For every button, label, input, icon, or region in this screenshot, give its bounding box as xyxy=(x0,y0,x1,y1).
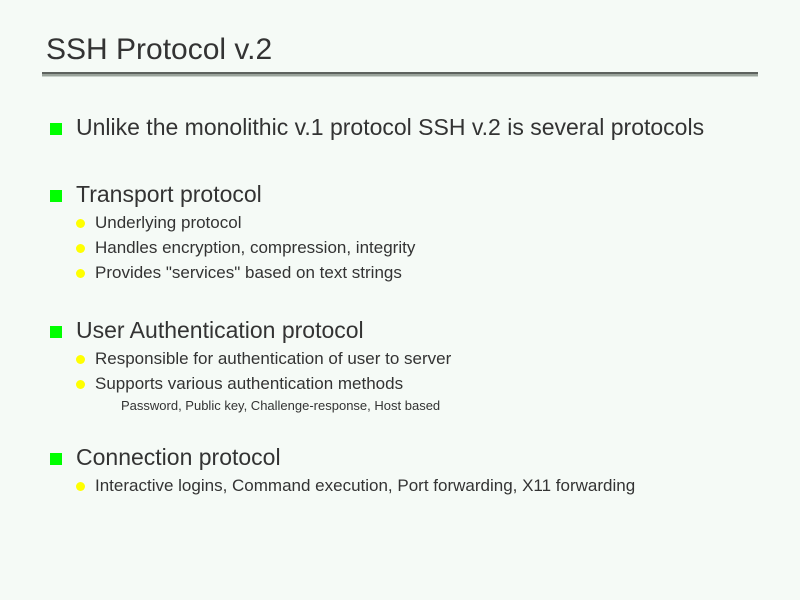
bullet-item-level2: Provides "services" based on text string… xyxy=(76,260,770,285)
bullet-item-label: Underlying protocol xyxy=(95,210,241,235)
bullet-item-label: Supports various authentication methods xyxy=(95,371,403,396)
bullet-item-label: Responsible for authentication of user t… xyxy=(95,346,451,371)
slide-body: Unlike the monolithic v.1 protocol SSH v… xyxy=(50,112,770,498)
dot-bullet-icon xyxy=(76,482,85,491)
dot-bullet-icon xyxy=(76,355,85,364)
bullet-item-level2: Responsible for authentication of user t… xyxy=(76,346,770,371)
bullet-item-label: Connection protocol xyxy=(76,442,281,473)
square-bullet-icon xyxy=(50,453,62,465)
square-bullet-icon xyxy=(50,123,62,135)
bullet-item-level2: Interactive logins, Command execution, P… xyxy=(76,473,770,498)
dot-bullet-icon xyxy=(76,219,85,228)
bullet-item-label: User Authentication protocol xyxy=(76,315,364,346)
spacer xyxy=(50,143,770,179)
bullet-item-label: Unlike the monolithic v.1 protocol SSH v… xyxy=(76,112,704,143)
bullet-item-level2: Underlying protocol xyxy=(76,210,770,235)
bullet-item-label: Interactive logins, Command execution, P… xyxy=(95,473,635,498)
bullet-item-level2: Handles encryption, compression, integri… xyxy=(76,235,770,260)
bullet-item-level1: User Authentication protocol xyxy=(50,315,770,346)
bullet-item-level1: Unlike the monolithic v.1 protocol SSH v… xyxy=(50,112,770,143)
page-title: SSH Protocol v.2 xyxy=(42,32,758,72)
bullet-item-label: Handles encryption, compression, integri… xyxy=(95,235,415,260)
bullet-item-label: Provides "services" based on text string… xyxy=(95,260,402,285)
dot-bullet-icon xyxy=(76,380,85,389)
presentation-slide: SSH Protocol v.2 Unlike the monolithic v… xyxy=(0,0,800,600)
bullet-item-level1: Connection protocol xyxy=(50,442,770,473)
square-bullet-icon xyxy=(50,326,62,338)
bullet-item-level2: Supports various authentication methods xyxy=(76,371,770,396)
title-divider xyxy=(42,72,758,77)
bullet-item-level3: Password, Public key, Challenge-response… xyxy=(121,396,770,416)
dot-bullet-icon xyxy=(76,269,85,278)
bullet-item-level1: Transport protocol xyxy=(50,179,770,210)
bullet-item-label: Password, Public key, Challenge-response… xyxy=(121,398,440,413)
spacer xyxy=(50,285,770,315)
bullet-item-label: Transport protocol xyxy=(76,179,262,210)
square-bullet-icon xyxy=(50,190,62,202)
dot-bullet-icon xyxy=(76,244,85,253)
spacer xyxy=(50,416,770,442)
slide-title-block: SSH Protocol v.2 xyxy=(42,32,758,77)
